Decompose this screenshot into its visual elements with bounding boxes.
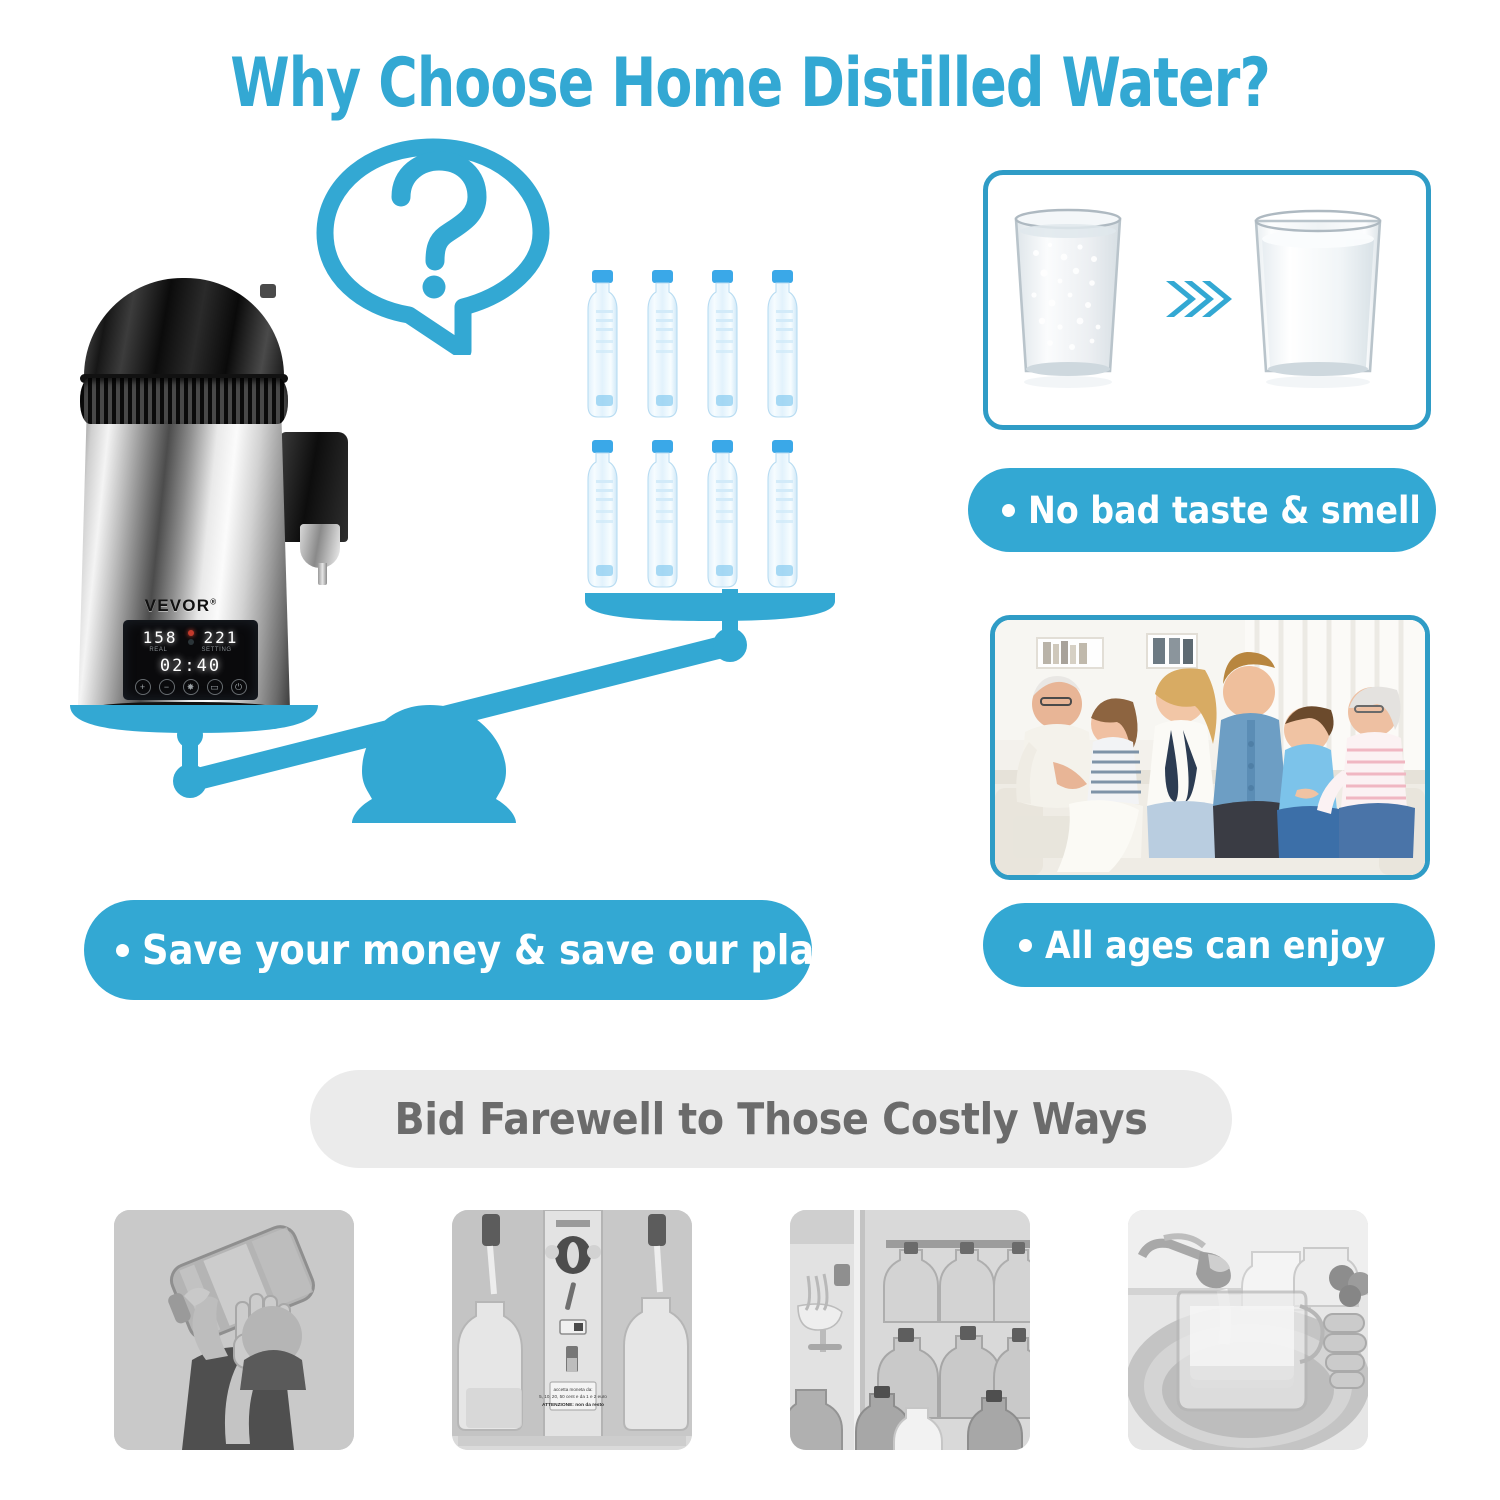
bullet-dot: [1019, 939, 1032, 952]
benefit-badge-no-bad-taste: No bad taste & smell: [968, 468, 1436, 552]
distiller-vent-fins: [80, 378, 288, 424]
benefit-label: All ages can enjoy: [1045, 924, 1385, 967]
bullet-dot: [116, 944, 129, 957]
benefit-label: No bad taste & smell: [1028, 489, 1421, 532]
benefit-badge-all-ages: All ages can enjoy: [983, 903, 1435, 987]
distiller-lid-latch: [260, 284, 276, 298]
distiller-spout: [300, 524, 340, 568]
costly-ways-heading: Bid Farewell to Those Costly Ways: [310, 1070, 1232, 1168]
stacked-water-jugs-photo: [790, 1210, 1030, 1450]
cloudy-to-clear-water-comparison: [983, 170, 1431, 430]
coin-operated-water-dispenser-photo: accetta moneta da: 5, 10, 20, 50 cent e …: [452, 1210, 692, 1450]
benefit-badge-save-money: Save your money & save our planet: [84, 900, 812, 1000]
balance-right-pan: [585, 593, 835, 621]
page-title: Why Choose Home Distilled Water?: [90, 44, 1410, 123]
plastic-water-bottles-group: [572, 268, 834, 598]
family-on-sofa-photo: [990, 615, 1430, 880]
sign-line-1: accetta moneta da:: [553, 1387, 592, 1392]
bullet-dot: [1002, 504, 1015, 517]
infographic-page: Why Choose Home Distilled Water? VEVOR® …: [0, 0, 1500, 1500]
benefit-label: Save your money & save our planet: [142, 926, 883, 974]
filter-pitcher-at-faucet-photo: [1128, 1210, 1368, 1450]
clear-water-glass: [1256, 211, 1380, 388]
triple-chevron-right-icon: [1166, 281, 1232, 317]
sign-line-3: ATTENZIONE: non da resto: [542, 1402, 604, 1408]
man-carrying-water-jug-photo: [114, 1210, 354, 1450]
cloudy-fizzy-water-glass: [1016, 210, 1120, 388]
sign-line-2: 5, 10, 20, 50 cent e da 1 e 2 euro: [539, 1394, 607, 1399]
distiller-spout-tip: [318, 563, 327, 585]
